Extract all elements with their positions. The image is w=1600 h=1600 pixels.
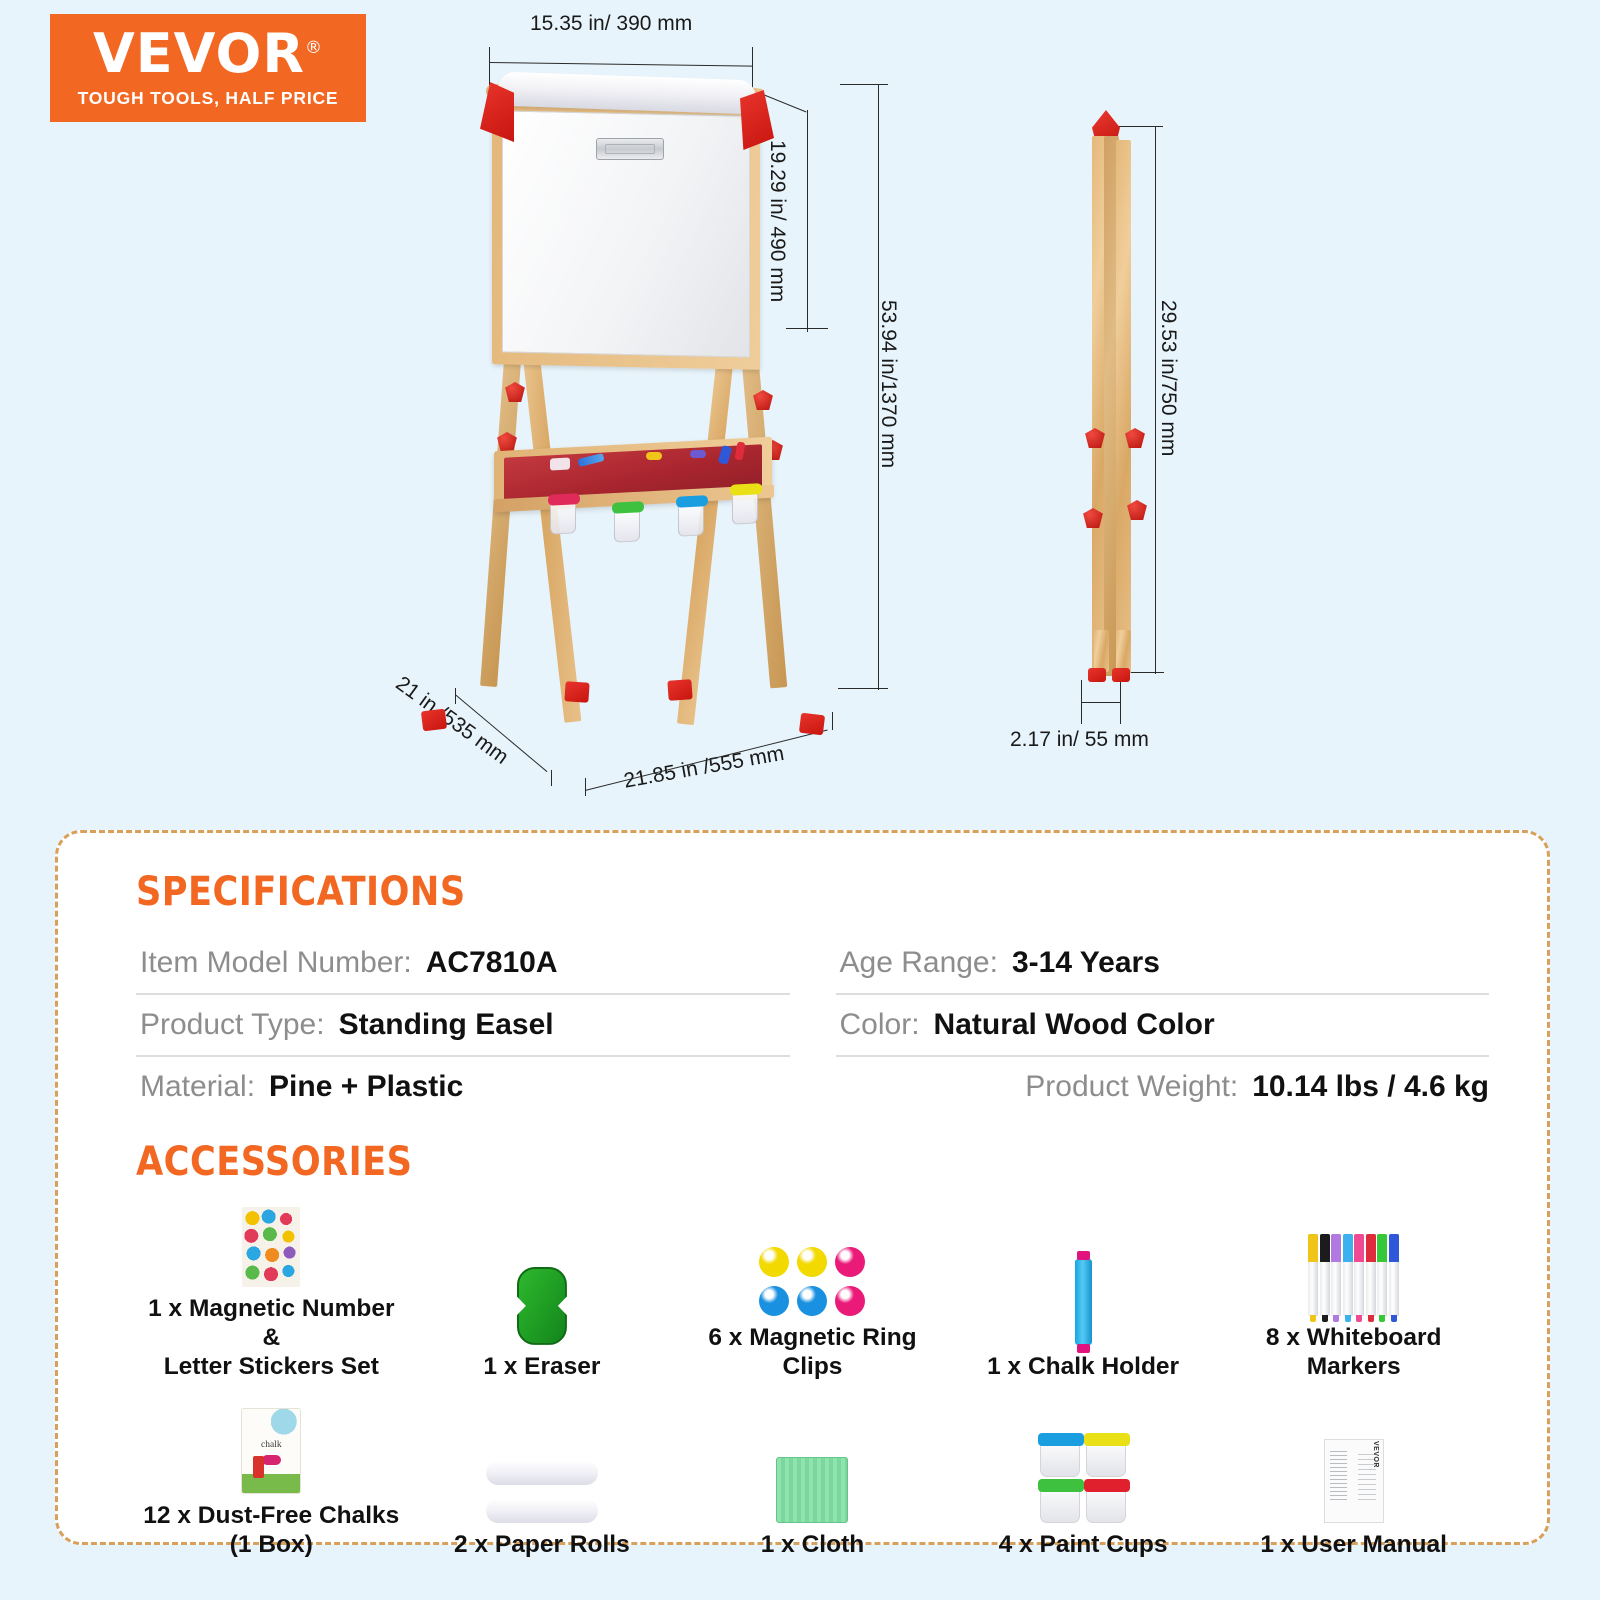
accessory-dust-free-chalks: chalk 12 x Dust-Free Chalks (1 Box) xyxy=(136,1398,407,1560)
spec-value: AC7810A xyxy=(426,946,558,980)
whiteboard-markers-icon xyxy=(1308,1220,1399,1316)
dimension-board-width: 15.35 in/ 390 mm xyxy=(530,12,692,36)
cup-lid xyxy=(612,501,644,514)
chalk-holder-icon xyxy=(1075,1249,1092,1345)
dimension-total-height: 53.94 in/1370 mm xyxy=(876,300,900,468)
corner-cap-right xyxy=(740,90,774,150)
spec-row-material: Material: Pine + Plastic xyxy=(136,1057,790,1117)
accessories-title: ACCESSORIES xyxy=(136,1139,1327,1185)
foot-cap xyxy=(799,713,825,736)
chalk-box-icon: chalk xyxy=(241,1398,301,1494)
spec-value: Natural Wood Color xyxy=(934,1008,1215,1042)
sticker-sheet-icon xyxy=(242,1191,300,1287)
dim-line xyxy=(1081,702,1121,703)
whiteboard-marker xyxy=(1308,1234,1318,1316)
ext-line xyxy=(551,770,552,786)
paint-cup-lid xyxy=(1084,1433,1130,1446)
foot-cap xyxy=(421,709,447,732)
accessory-label: 4 x Paint Cups xyxy=(999,1531,1168,1560)
tray-ring-clip xyxy=(690,450,706,458)
easel-front-view xyxy=(400,60,860,760)
spec-value: 10.14 lbs / 4.6 kg xyxy=(1252,1070,1489,1104)
whiteboard-marker xyxy=(1389,1234,1399,1316)
tray-ring-clip xyxy=(646,452,662,460)
whiteboard-marker xyxy=(1354,1234,1364,1316)
magnetic-ring-clips-icon xyxy=(759,1220,865,1316)
dimension-folded-width: 2.17 in/ 55 mm xyxy=(1010,728,1149,752)
whiteboard-marker xyxy=(1366,1234,1376,1316)
paint-cup xyxy=(1040,1483,1080,1523)
spec-value: 3-14 Years xyxy=(1012,946,1160,980)
accessory-label: 2 x Paper Rolls xyxy=(454,1531,630,1560)
spec-label: Item Model Number: xyxy=(140,946,412,980)
accessory-magnetic-stickers: 1 x Magnetic Number & Letter Stickers Se… xyxy=(136,1191,407,1382)
info-panel: SPECIFICATIONS Item Model Number: AC7810… xyxy=(55,830,1550,1545)
spec-value: Pine + Plastic xyxy=(269,1070,463,1104)
accessory-label: 1 x Magnetic Number & Letter Stickers Se… xyxy=(136,1295,407,1382)
dim-line xyxy=(878,84,879,690)
tray-paint-cup xyxy=(614,507,640,542)
whiteboard-marker xyxy=(1320,1234,1330,1316)
accessory-label: 1 x Chalk Holder xyxy=(987,1353,1179,1382)
accessory-label: 1 x User Manual xyxy=(1260,1531,1447,1560)
paint-cup-lid xyxy=(1038,1433,1084,1446)
cup-lid xyxy=(730,483,762,496)
accessory-chalk-holder: 1 x Chalk Holder xyxy=(948,1249,1219,1382)
accessories-row-1: 1 x Magnetic Number & Letter Stickers Se… xyxy=(136,1191,1489,1382)
accessory-label: 1 x Cloth xyxy=(761,1531,864,1560)
spec-row-product-type: Product Type: Standing Easel xyxy=(136,995,790,1057)
accessory-label: 12 x Dust-Free Chalks (1 Box) xyxy=(136,1502,407,1560)
spec-row-product-weight: Product Weight: 10.14 lbs / 4.6 kg xyxy=(836,1057,1490,1117)
manual-brand-text: VEVOR xyxy=(1372,1440,1379,1467)
user-manual-icon: VEVOR xyxy=(1324,1427,1384,1523)
whiteboard-marker xyxy=(1331,1234,1341,1316)
accessory-whiteboard-markers: 8 x Whiteboard Markers xyxy=(1218,1220,1489,1382)
spec-row-age-range: Age Range: 3-14 Years xyxy=(836,933,1490,995)
accessory-user-manual: VEVOR 1 x User Manual xyxy=(1218,1427,1489,1560)
spec-label: Age Range: xyxy=(840,946,998,980)
ring-clip-dot xyxy=(759,1286,789,1316)
accessory-label: 6 x Magnetic Ring Clips xyxy=(677,1324,948,1382)
folded-leg-lower xyxy=(1116,630,1131,672)
accessory-label: 1 x Eraser xyxy=(483,1353,600,1382)
folded-foot-cap xyxy=(1112,668,1130,682)
foot-cap xyxy=(564,681,589,703)
specifications-title: SPECIFICATIONS xyxy=(136,869,1327,915)
accessory-label: 8 x Whiteboard Markers xyxy=(1218,1324,1489,1382)
paper-clip xyxy=(596,138,664,160)
specifications-table: Item Model Number: AC7810A Age Range: 3-… xyxy=(136,933,1489,1117)
paint-cup xyxy=(1086,1437,1126,1477)
cup-lid xyxy=(676,495,708,508)
accessories-row-2: chalk 12 x Dust-Free Chalks (1 Box) 2 x … xyxy=(136,1398,1489,1560)
ring-clip-dot xyxy=(835,1247,865,1277)
tray-eraser xyxy=(550,457,570,470)
spec-label: Product Type: xyxy=(140,1008,325,1042)
spec-row-color: Color: Natural Wood Color xyxy=(836,995,1490,1057)
ring-clip-dot xyxy=(835,1286,865,1316)
spec-label: Product Weight: xyxy=(1025,1070,1238,1104)
ring-clip-dot xyxy=(759,1247,789,1277)
product-illustration: 15.35 in/ 390 mm 19.29 in/ 490 mm 53.94 … xyxy=(0,0,1600,820)
spec-label: Material: xyxy=(140,1070,255,1104)
folded-foot-cap xyxy=(1088,668,1106,682)
whiteboard-marker xyxy=(1377,1234,1387,1316)
ext-line xyxy=(585,778,586,796)
tray-paint-cup xyxy=(678,501,704,536)
accessory-cloth: 1 x Cloth xyxy=(677,1427,948,1560)
paper-rolls-icon xyxy=(486,1427,598,1523)
accessory-paint-cups: 4 x Paint Cups xyxy=(948,1427,1219,1560)
spec-value: Standing Easel xyxy=(339,1008,554,1042)
chalk-box-text: chalk xyxy=(242,1440,300,1450)
accessory-paper-rolls: 2 x Paper Rolls xyxy=(407,1427,678,1560)
whiteboard-marker xyxy=(1343,1234,1353,1316)
paint-cup xyxy=(1040,1437,1080,1477)
paint-cup-lid xyxy=(1038,1479,1084,1492)
folded-leg xyxy=(1116,140,1131,674)
cloth-icon xyxy=(776,1427,848,1523)
tray-paint-cup xyxy=(550,499,576,534)
eraser-icon xyxy=(517,1249,567,1345)
accessory-magnetic-ring-clips: 6 x Magnetic Ring Clips xyxy=(677,1220,948,1382)
paint-cups-icon xyxy=(1040,1427,1126,1523)
product-spec-page: VEVOR® TOUGH TOOLS, HALF PRICE 15.35 in/… xyxy=(0,0,1600,1600)
tray-paint-cup xyxy=(732,489,758,524)
paint-cup-lid xyxy=(1084,1479,1130,1492)
paint-cup xyxy=(1086,1483,1126,1523)
foot-cap xyxy=(667,679,692,701)
easel-folded-view xyxy=(1048,110,1178,690)
spec-row-model: Item Model Number: AC7810A xyxy=(136,933,790,995)
accessory-eraser: 1 x Eraser xyxy=(407,1249,678,1382)
ring-clip-dot xyxy=(797,1286,827,1316)
spec-label: Color: xyxy=(840,1008,920,1042)
folded-leg-lower xyxy=(1094,630,1109,672)
ring-clip-dot xyxy=(797,1247,827,1277)
cup-lid xyxy=(548,493,580,506)
